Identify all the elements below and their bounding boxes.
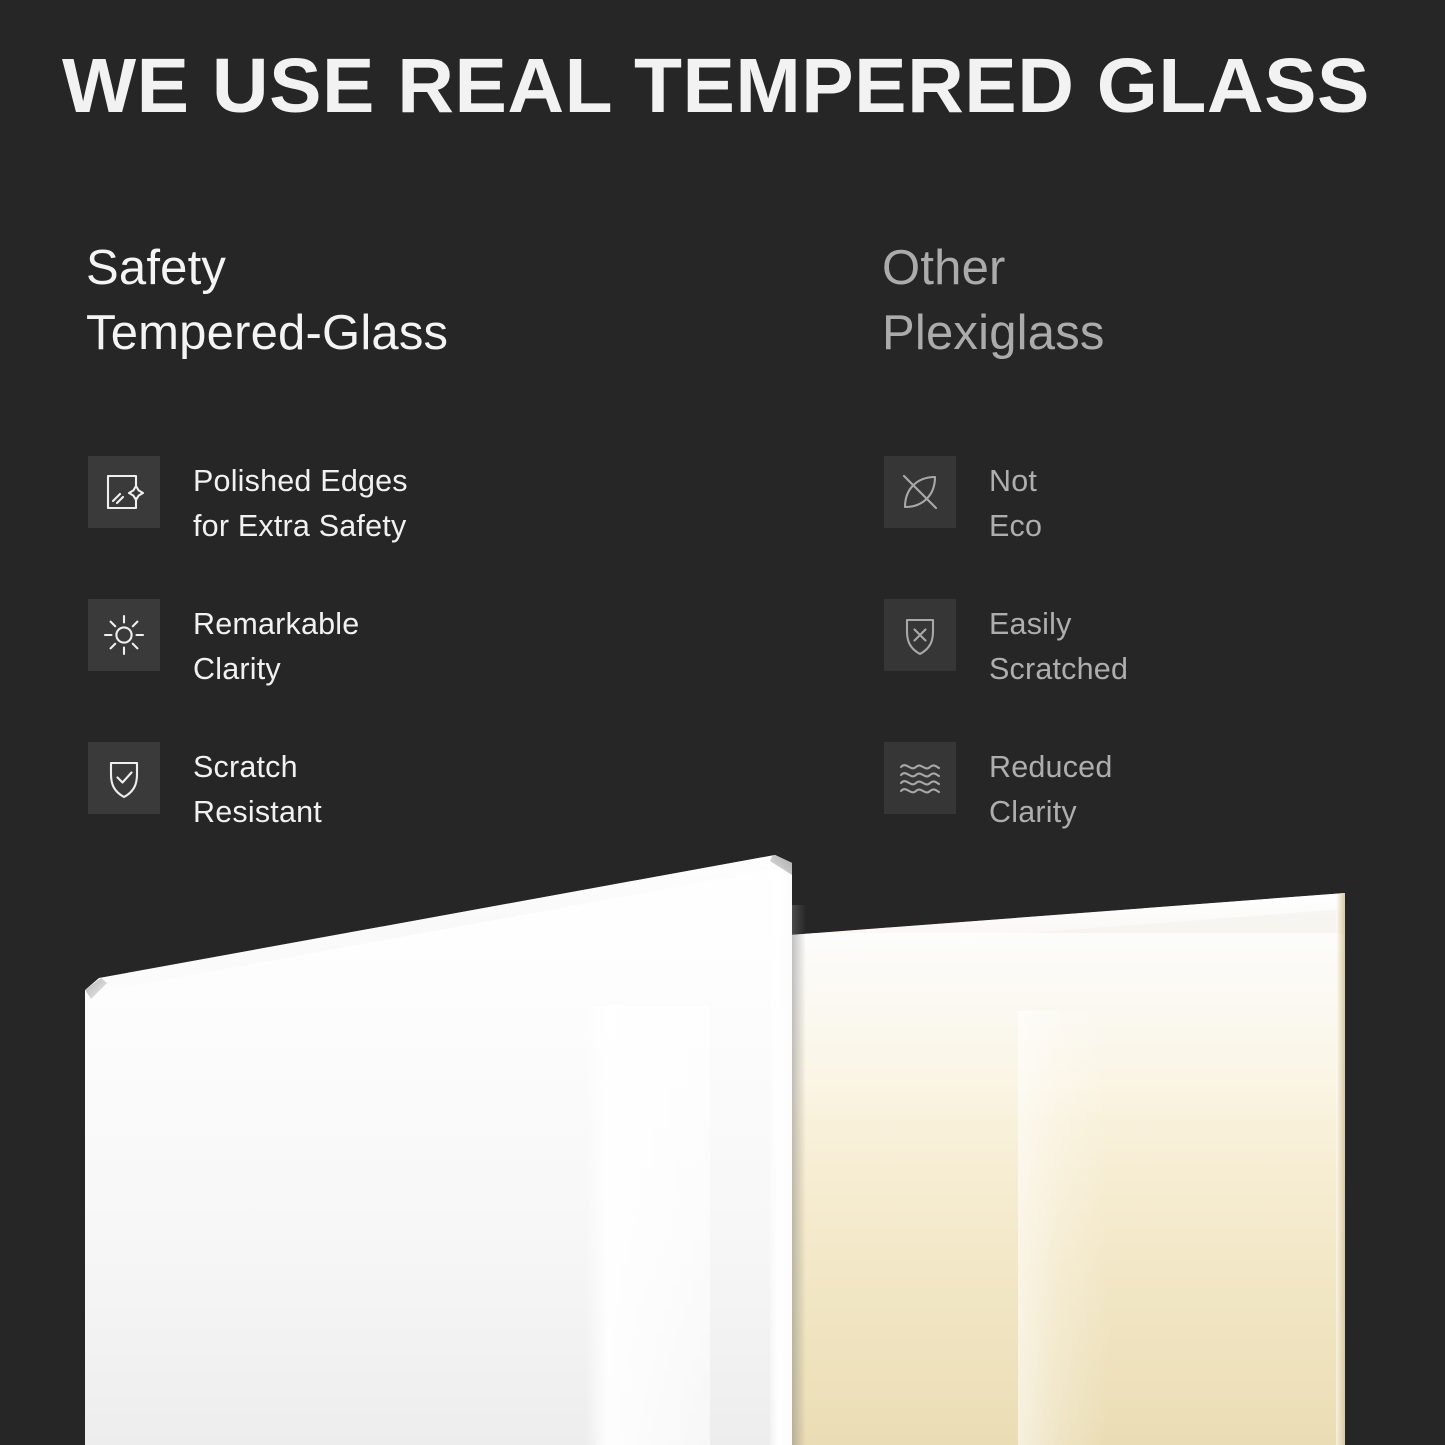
panel-separation-shadow [792, 905, 806, 1445]
feature-label: Scratch Resistant [193, 740, 322, 835]
plexi-reflection-band [1018, 1011, 1110, 1445]
column-title-left: Safety Tempered-Glass [86, 236, 846, 365]
feature-row: Remarkable Clarity [88, 597, 848, 740]
wavy-lines-icon [884, 742, 956, 814]
clear-polished-top-edge [85, 845, 792, 1020]
clear-tempered-glass-panel [85, 845, 792, 1445]
column-title-right: Other Plexiglass [882, 236, 1402, 365]
feature-label: Easily Scratched [989, 597, 1128, 692]
feature-label: Reduced Clarity [989, 740, 1113, 835]
feature-list-right: Not Eco Easily Scratched [884, 454, 1404, 883]
column-plexiglass: Other Plexiglass Not Eco [882, 236, 1402, 365]
shield-check-icon [88, 742, 160, 814]
clear-reflection-band [585, 1005, 710, 1445]
feature-label: Not Eco [989, 454, 1042, 549]
yellowed-plexiglass-panel [790, 893, 1345, 1445]
column-tempered-glass: Safety Tempered-Glass Polished Edges for… [86, 236, 846, 365]
plexi-right-edge [1336, 893, 1345, 1445]
feature-label: Remarkable Clarity [193, 597, 359, 692]
feature-list-left: Polished Edges for Extra Safety Remarkab… [88, 454, 848, 883]
feature-label: Polished Edges for Extra Safety [193, 454, 408, 549]
feature-row: Not Eco [884, 454, 1404, 597]
feature-row: Easily Scratched [884, 597, 1404, 740]
infographic-canvas: WE USE REAL TEMPERED GLASS Safety Temper… [0, 0, 1445, 1445]
sun-clarity-icon [88, 599, 160, 671]
page-title: WE USE REAL TEMPERED GLASS [62, 46, 1429, 127]
leaf-crossed-out-icon [884, 456, 956, 528]
shield-x-icon [884, 599, 956, 671]
product-comparison-image [0, 845, 1445, 1445]
feature-row: Polished Edges for Extra Safety [88, 454, 848, 597]
polished-glass-sparkle-icon [88, 456, 160, 528]
clear-polished-right-edge [770, 845, 792, 1445]
